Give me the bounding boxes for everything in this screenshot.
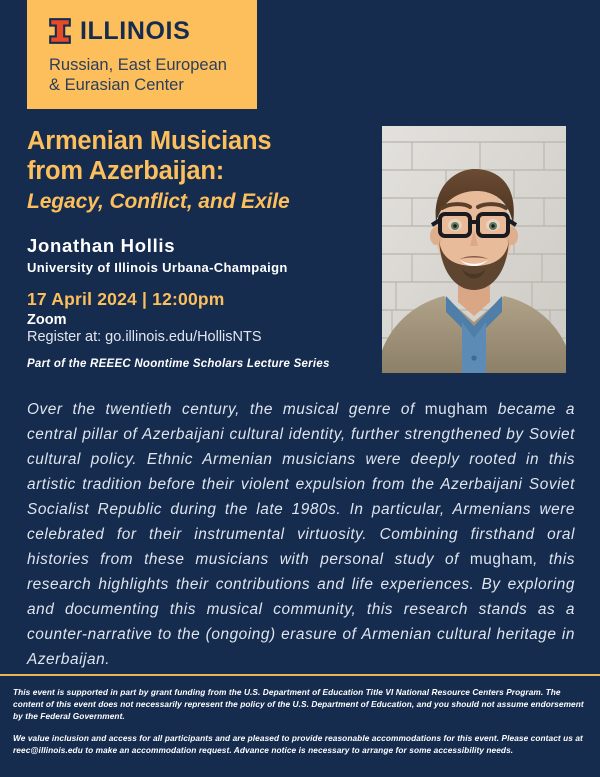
brand-wordmark-text: ILLINOIS xyxy=(80,19,190,44)
footer-divider xyxy=(0,674,600,676)
accessibility-notice: We value inclusion and access for all pa… xyxy=(13,732,587,756)
event-title-line-1: Armenian Musicians xyxy=(27,127,372,157)
event-abstract: Over the twentieth century, the musical … xyxy=(27,398,575,672)
abstract-term-mugham-2: mugham xyxy=(470,551,533,568)
headshot-illustration xyxy=(382,126,566,373)
event-logistics: 17 April 2024 | 12:00pm Zoom Register at… xyxy=(27,289,372,345)
registration-link[interactable]: Register at: go.illinois.edu/HollisNTS xyxy=(27,329,372,345)
event-title-line-2: from Azerbaijan: xyxy=(27,157,372,187)
event-poster: ILLINOIS Russian, East European & Eurasi… xyxy=(0,0,600,777)
speaker-info: Jonathan Hollis University of Illinois U… xyxy=(27,235,372,275)
illinois-wordmark: ILLINOIS xyxy=(49,16,257,46)
brand-unit-line-2: & Eurasian Center xyxy=(49,75,257,95)
footer-notices: This event is supported in part by grant… xyxy=(13,686,587,756)
event-datetime: 17 April 2024 | 12:00pm xyxy=(27,289,372,310)
illinois-block-i-icon xyxy=(49,18,71,44)
brand-unit-name: Russian, East European & Eurasian Center xyxy=(49,55,257,95)
page-title: Armenian Musicians from Azerbaijan: Lega… xyxy=(27,127,372,214)
speaker-name: Jonathan Hollis xyxy=(27,235,372,257)
brand-banner: ILLINOIS Russian, East European & Eurasi… xyxy=(27,0,257,109)
speaker-headshot-photo xyxy=(382,126,566,373)
speaker-affiliation: University of Illinois Urbana-Champaign xyxy=(27,260,372,275)
abstract-part-3: , this research highlights their contrib… xyxy=(27,551,575,668)
event-subtitle: Legacy, Conflict, and Exile xyxy=(27,189,372,214)
brand-unit-line-1: Russian, East European xyxy=(49,55,257,75)
event-location: Zoom xyxy=(27,312,372,328)
grant-funding-notice: This event is supported in part by grant… xyxy=(13,686,587,722)
abstract-term-mugham-1: mugham xyxy=(425,401,488,418)
abstract-part-1: Over the twentieth century, the musical … xyxy=(27,401,425,418)
lecture-series-note: Part of the REEEC Noontime Scholars Lect… xyxy=(27,358,330,370)
abstract-part-2: became a central pillar of Azerbaijani c… xyxy=(27,401,575,568)
